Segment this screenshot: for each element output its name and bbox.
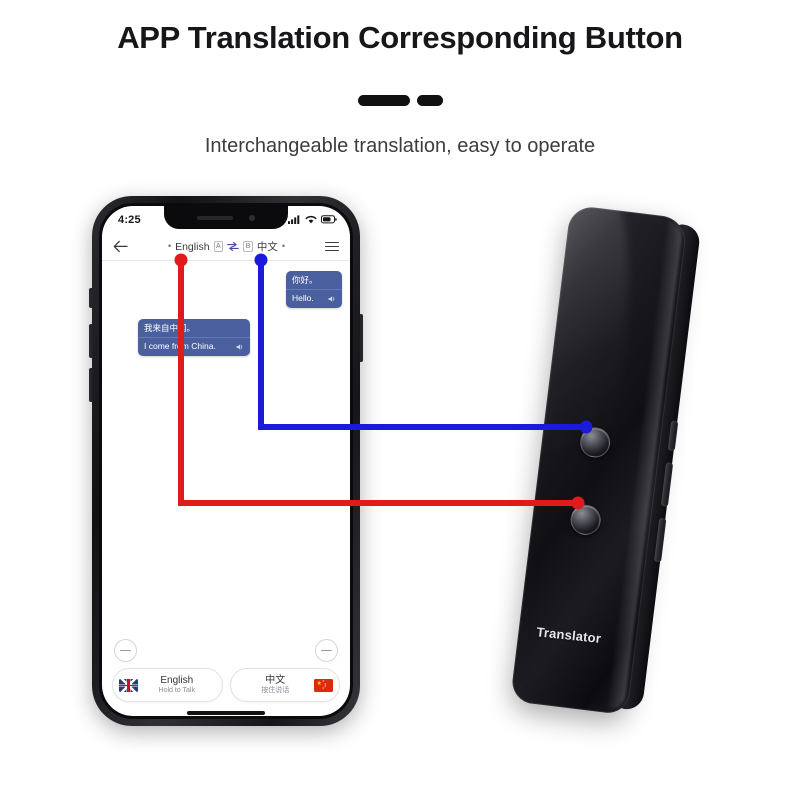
home-indicator <box>187 711 265 715</box>
phone-mockup: 4:25 <box>92 196 360 726</box>
talk-button-labels: English Hold to Talk <box>138 675 216 696</box>
wifi-icon <box>305 215 317 224</box>
phone-bezel: 4:25 <box>99 203 353 719</box>
chat-bubble[interactable]: 我来自中国。 I come from China. <box>138 319 250 356</box>
talk-button-main-label: 中文 <box>237 675 315 687</box>
signal-icon <box>288 215 301 224</box>
device-body: Translator <box>510 205 688 716</box>
badge-b: B <box>243 241 253 252</box>
phone-mute-switch[interactable] <box>89 288 92 308</box>
divider-dashes <box>0 95 800 106</box>
talk-button-sub-label: 按住说话 <box>237 687 315 695</box>
badge-a: A <box>214 241 224 252</box>
chat-bubble[interactable]: 你好。 Hello. <box>286 271 342 308</box>
battery-icon <box>321 215 337 224</box>
phone-screen: 4:25 <box>102 206 350 716</box>
status-bar: 4:25 <box>102 206 350 233</box>
talk-button-labels: 中文 按住说话 <box>237 675 315 696</box>
status-time: 4:25 <box>118 214 141 226</box>
phone-volume-up-button[interactable] <box>89 324 92 358</box>
talk-button-main-label: English <box>138 675 216 687</box>
phone-volume-down-button[interactable] <box>89 368 92 402</box>
page-subtitle: Interchangeable translation, easy to ope… <box>0 135 800 158</box>
chat-bubble-translation-row: I come from China. <box>138 338 250 356</box>
target-language-label[interactable]: 中文 <box>257 239 278 254</box>
source-language-label[interactable]: English <box>175 241 209 253</box>
swap-arrows-icon[interactable] <box>227 242 239 251</box>
keyboard-icon[interactable] <box>114 639 137 662</box>
keyboard-icon-row <box>112 639 340 662</box>
back-arrow-icon[interactable] <box>113 240 128 253</box>
china-flag-icon: ★ ★ ★ ★ ★ <box>314 679 333 692</box>
chat-bubble-translation-row: Hello. <box>286 290 342 308</box>
chat-bubble-translation: I come from China. <box>144 341 216 352</box>
talk-button-english[interactable]: English Hold to Talk <box>112 668 223 702</box>
language-switcher[interactable]: • English A B 中文 • <box>128 239 325 254</box>
uk-flag-icon <box>119 679 138 692</box>
talk-button-row: English Hold to Talk 中文 按住说话 ★ ★ ★ <box>112 668 340 702</box>
app-bottom-bar: English Hold to Talk 中文 按住说话 ★ ★ ★ <box>102 639 350 716</box>
talk-button-sub-label: Hold to Talk <box>138 687 216 695</box>
speaker-icon[interactable] <box>328 295 336 303</box>
chat-area: 你好。 Hello. 我来自中国。 I come from China. <box>102 261 350 616</box>
page-title: APP Translation Corresponding Button <box>0 20 800 56</box>
dash-long <box>358 95 410 106</box>
chat-bubble-source: 你好。 <box>286 271 342 290</box>
hamburger-menu-icon[interactable] <box>325 242 339 252</box>
translator-device: Translator <box>498 196 738 726</box>
chat-bubble-source: 我来自中国。 <box>138 319 250 338</box>
keyboard-icon[interactable] <box>315 639 338 662</box>
right-dot-marker: • <box>282 242 285 251</box>
phone-power-button[interactable] <box>360 314 363 362</box>
dash-short <box>417 95 443 106</box>
speaker-icon[interactable] <box>236 343 244 351</box>
chat-bubble-translation: Hello. <box>292 293 314 304</box>
talk-button-chinese[interactable]: 中文 按住说话 ★ ★ ★ ★ ★ <box>230 668 341 702</box>
status-icons <box>288 215 337 224</box>
left-dot-marker: • <box>168 242 171 251</box>
app-header: • English A B 中文 • <box>102 233 350 261</box>
